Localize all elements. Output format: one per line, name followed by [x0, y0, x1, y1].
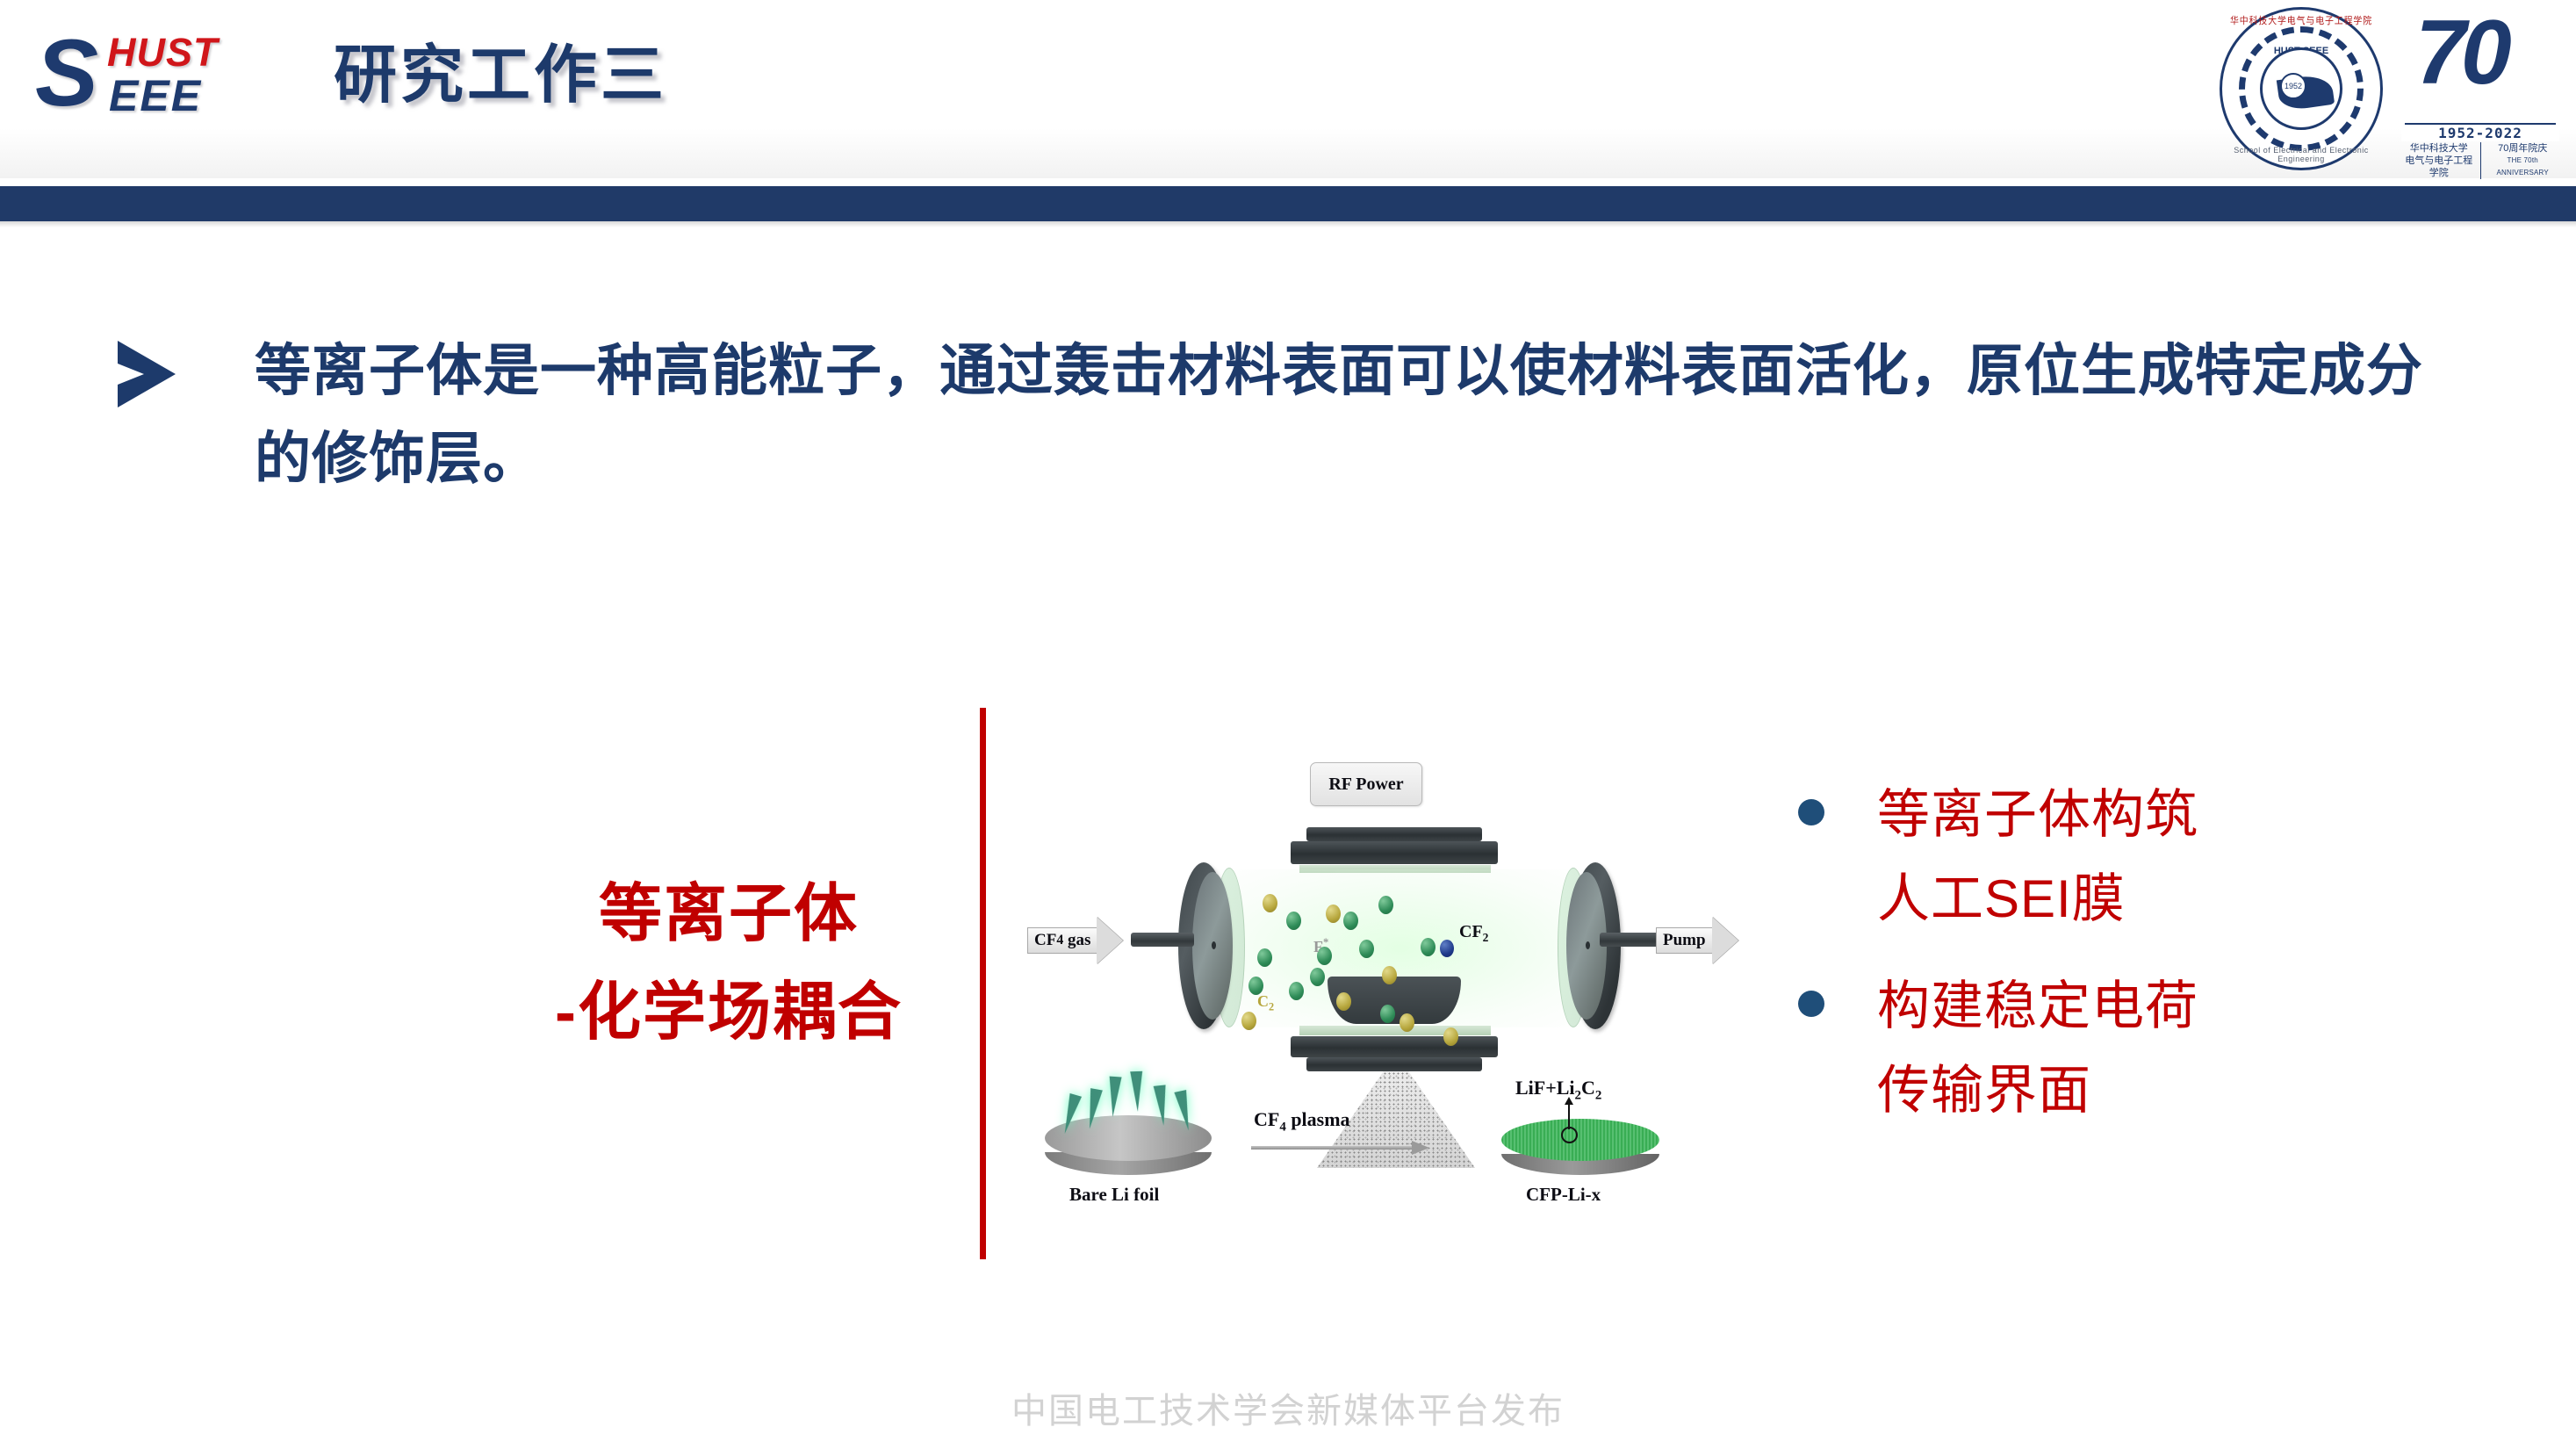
anniversary-org-line2: 电气与电子工程学院 — [2401, 155, 2476, 179]
reaction-arrow — [1251, 1143, 1436, 1152]
anniversary-label: 70周年院庆 THE 70th ANNIVERSARY — [2480, 142, 2559, 179]
bottom-electrode-lower — [1306, 1057, 1482, 1071]
particle — [1343, 912, 1358, 930]
plasma-reactor-diagram: RF Power CF4 gas Pump — [1027, 757, 1765, 1161]
particle — [1263, 894, 1277, 912]
reaction-arrow-shaft — [1251, 1146, 1414, 1150]
list-item-text: 构建稳定电荷 传输界面 — [1877, 964, 2413, 1133]
rf-power-label: RF Power — [1310, 762, 1422, 806]
particle — [1257, 948, 1272, 967]
list-item-line2: 人工SEI膜 — [1877, 857, 2413, 941]
bare-li-foil-label: Bare Li foil — [1069, 1184, 1159, 1206]
bullet-dot-icon — [1798, 991, 1824, 1017]
bullet-dot-icon — [1798, 799, 1824, 825]
school-seal-icon: 华中科技大学电气与电子工程学院 HUST SEEE 1952 School of… — [2220, 7, 2383, 170]
concept-label-line1: 等离子体 — [492, 865, 966, 963]
anniversary-years: 1952-2022 — [2401, 125, 2559, 141]
pump-outlet-label: Pump — [1656, 927, 1712, 954]
slide-header: S HUST EEE 研究工作三 华中科技大学电气与电子工程学院 HUST SE… — [0, 0, 2576, 178]
logo-s-letter: S — [35, 26, 93, 119]
anniversary-number: 70 — [2415, 5, 2507, 100]
top-electrode-lower — [1291, 841, 1498, 864]
header-divider-shadow — [0, 221, 2576, 227]
gas-inlet-arrowhead — [1097, 917, 1123, 964]
vertical-divider — [980, 708, 986, 1259]
list-item-text: 等离子体构筑 人工SEI膜 — [1877, 773, 2413, 941]
concept-label: 等离子体 -化学场耦合 — [492, 865, 966, 1062]
outlet-pipe — [1600, 933, 1663, 947]
chamber-cap-right-port — [1586, 941, 1590, 949]
species-label-cf2: CF2 — [1459, 922, 1488, 945]
species-label-f-radical: F* — [1313, 936, 1328, 956]
seal-english-ring-text: School of Electrical and Electronic Engi… — [2220, 146, 2383, 163]
particle — [1382, 966, 1397, 984]
list-item: 构建稳定电荷 传输界面 — [1798, 964, 2413, 1133]
slide-root: S HUST EEE 研究工作三 华中科技大学电气与电子工程学院 HUST SE… — [0, 0, 2576, 1456]
header-divider-bar — [0, 186, 2576, 221]
pump-outlet-arrowhead — [1712, 917, 1738, 964]
dendrite-spike — [1130, 1071, 1144, 1112]
particle — [1336, 992, 1351, 1011]
particle — [1286, 912, 1301, 930]
bottom-electrode-upper — [1291, 1036, 1498, 1057]
anniversary-label-en: THE 70th ANNIVERSARY — [2486, 155, 2559, 179]
cfp-li-top — [1501, 1119, 1659, 1161]
page-title: 研究工作三 — [334, 23, 667, 115]
concept-label-line2: -化学场耦合 — [492, 963, 966, 1062]
bottom-plate — [1299, 1026, 1491, 1035]
seal-core: 1952 — [2260, 47, 2342, 130]
process-label: CF4 plasma — [1254, 1108, 1350, 1135]
list-item: 等离子体构筑 人工SEI膜 — [1798, 773, 2413, 941]
particle — [1289, 982, 1304, 1000]
anniversary-caption: 华中科技大学 电气与电子工程学院 70周年院庆 THE 70th ANNIVER… — [2401, 142, 2559, 179]
list-item-line1: 等离子体构筑 — [1877, 773, 2413, 857]
particle — [1400, 1013, 1414, 1032]
anniversary-org: 华中科技大学 电气与电子工程学院 — [2401, 142, 2476, 179]
seal-year: 1952 — [2280, 73, 2306, 99]
gas-inlet-label: CF4 gas — [1027, 927, 1097, 954]
particle — [1241, 1012, 1256, 1030]
particle — [1440, 940, 1454, 957]
cfp-li-label: CFP-Li-x — [1526, 1184, 1601, 1206]
inlet-pipe — [1131, 933, 1194, 947]
particle — [1310, 968, 1325, 986]
key-points-list: 等离子体构筑 人工SEI膜 构建稳定电荷 传输界面 — [1798, 773, 2413, 1156]
particle — [1378, 896, 1393, 914]
species-label-c2: C2 — [1257, 992, 1274, 1014]
particle — [1421, 938, 1436, 956]
particle — [1359, 940, 1374, 958]
particle — [1443, 1027, 1458, 1046]
list-item-line1: 构建稳定电荷 — [1877, 964, 2413, 1049]
gas-inlet-arrow: CF4 gas — [1027, 917, 1123, 964]
chevron-right-icon — [114, 339, 181, 409]
top-electrode-upper — [1306, 827, 1482, 841]
anniversary-logo: 70 1952-2022 华中科技大学 电气与电子工程学院 70周年院庆 THE… — [2401, 4, 2559, 174]
anniversary-label-cn: 70周年院庆 — [2486, 142, 2559, 155]
product-label: LiF+Li2C2 — [1515, 1077, 1601, 1103]
hust-seee-logo: S HUST EEE — [35, 25, 307, 121]
seal-chinese-ring-text: 华中科技大学电气与电子工程学院 — [2227, 13, 2374, 27]
dendrite-spike — [1106, 1077, 1121, 1118]
logo-hust-text: HUST — [107, 30, 219, 76]
particle — [1326, 905, 1341, 923]
logo-eee-text: EEE — [109, 70, 202, 121]
product-pointer-arrow — [1568, 1101, 1570, 1129]
chamber-cap-left-port — [1212, 941, 1216, 949]
list-item-line2: 传输界面 — [1877, 1049, 2413, 1133]
lead-paragraph-text: 等离子体是一种高能粒子，通过轰击材料表面可以使材料表面活化，原位生成特定成分的修… — [255, 327, 2476, 502]
reaction-arrow-head — [1412, 1141, 1429, 1155]
pump-outlet-arrow: Pump — [1656, 917, 1738, 964]
footer-watermark: 中国电工技术学会新媒体平台发布 — [0, 1382, 2576, 1433]
anniversary-org-line1: 华中科技大学 — [2401, 142, 2476, 155]
particle — [1380, 1005, 1395, 1023]
